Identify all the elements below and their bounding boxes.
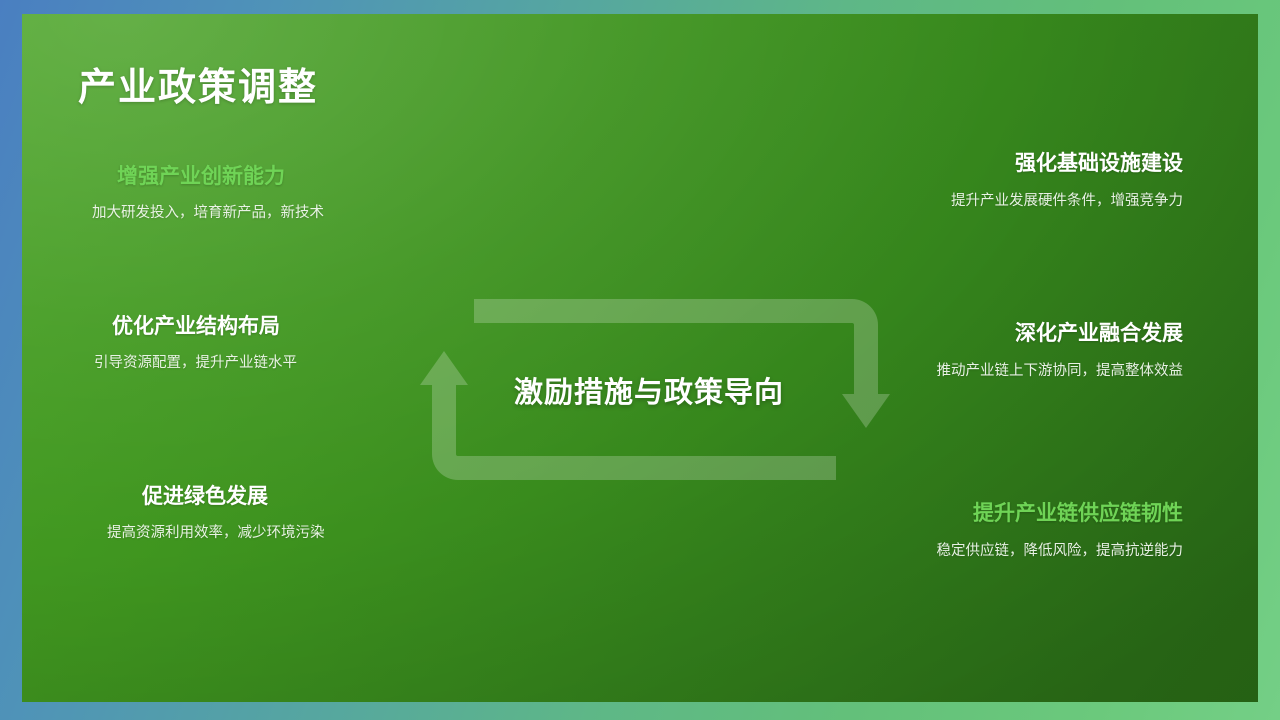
- item-heading: 促进绿色发展: [142, 484, 325, 510]
- item-heading: 增强产业创新能力: [117, 164, 324, 190]
- item-description: 引导资源配置，提升产业链水平: [94, 354, 297, 373]
- item-heading: 强化基础设施建设: [951, 151, 1183, 177]
- item-description: 加大研发投入，培育新产品，新技术: [92, 204, 324, 223]
- list-item-left-2: 优化产业结构布局 引导资源配置，提升产业链水平: [112, 314, 297, 373]
- item-description: 稳定供应链，降低风险，提高抗逆能力: [937, 542, 1184, 561]
- list-item-right-1: 强化基础设施建设 提升产业发展硬件条件，增强竞争力: [951, 151, 1183, 211]
- item-description: 提升产业发展硬件条件，增强竞争力: [951, 192, 1183, 211]
- list-item-right-2: 深化产业融合发展 推动产业链上下游协同，提高整体效益: [937, 321, 1184, 381]
- list-item-right-3: 提升产业链供应链韧性 稳定供应链，降低风险，提高抗逆能力: [937, 501, 1184, 561]
- list-item-left-1: 增强产业创新能力 加大研发投入，培育新产品，新技术: [117, 164, 324, 223]
- page-title: 产业政策调整: [78, 56, 318, 111]
- slide-canvas: 产业政策调整 激励措施与政策导向 增强产业创新能力 加大研发投入，培育新产品，新…: [0, 0, 1280, 720]
- list-item-left-3: 促进绿色发展 提高资源利用效率，减少环境污染: [142, 484, 325, 543]
- item-heading: 优化产业结构布局: [112, 314, 297, 340]
- slide-panel: 产业政策调整 激励措施与政策导向 增强产业创新能力 加大研发投入，培育新产品，新…: [22, 14, 1258, 702]
- item-description: 推动产业链上下游协同，提高整体效益: [937, 362, 1184, 381]
- item-heading: 提升产业链供应链韧性: [937, 501, 1184, 527]
- item-heading: 深化产业融合发展: [937, 321, 1184, 347]
- item-description: 提高资源利用效率，减少环境污染: [107, 524, 325, 543]
